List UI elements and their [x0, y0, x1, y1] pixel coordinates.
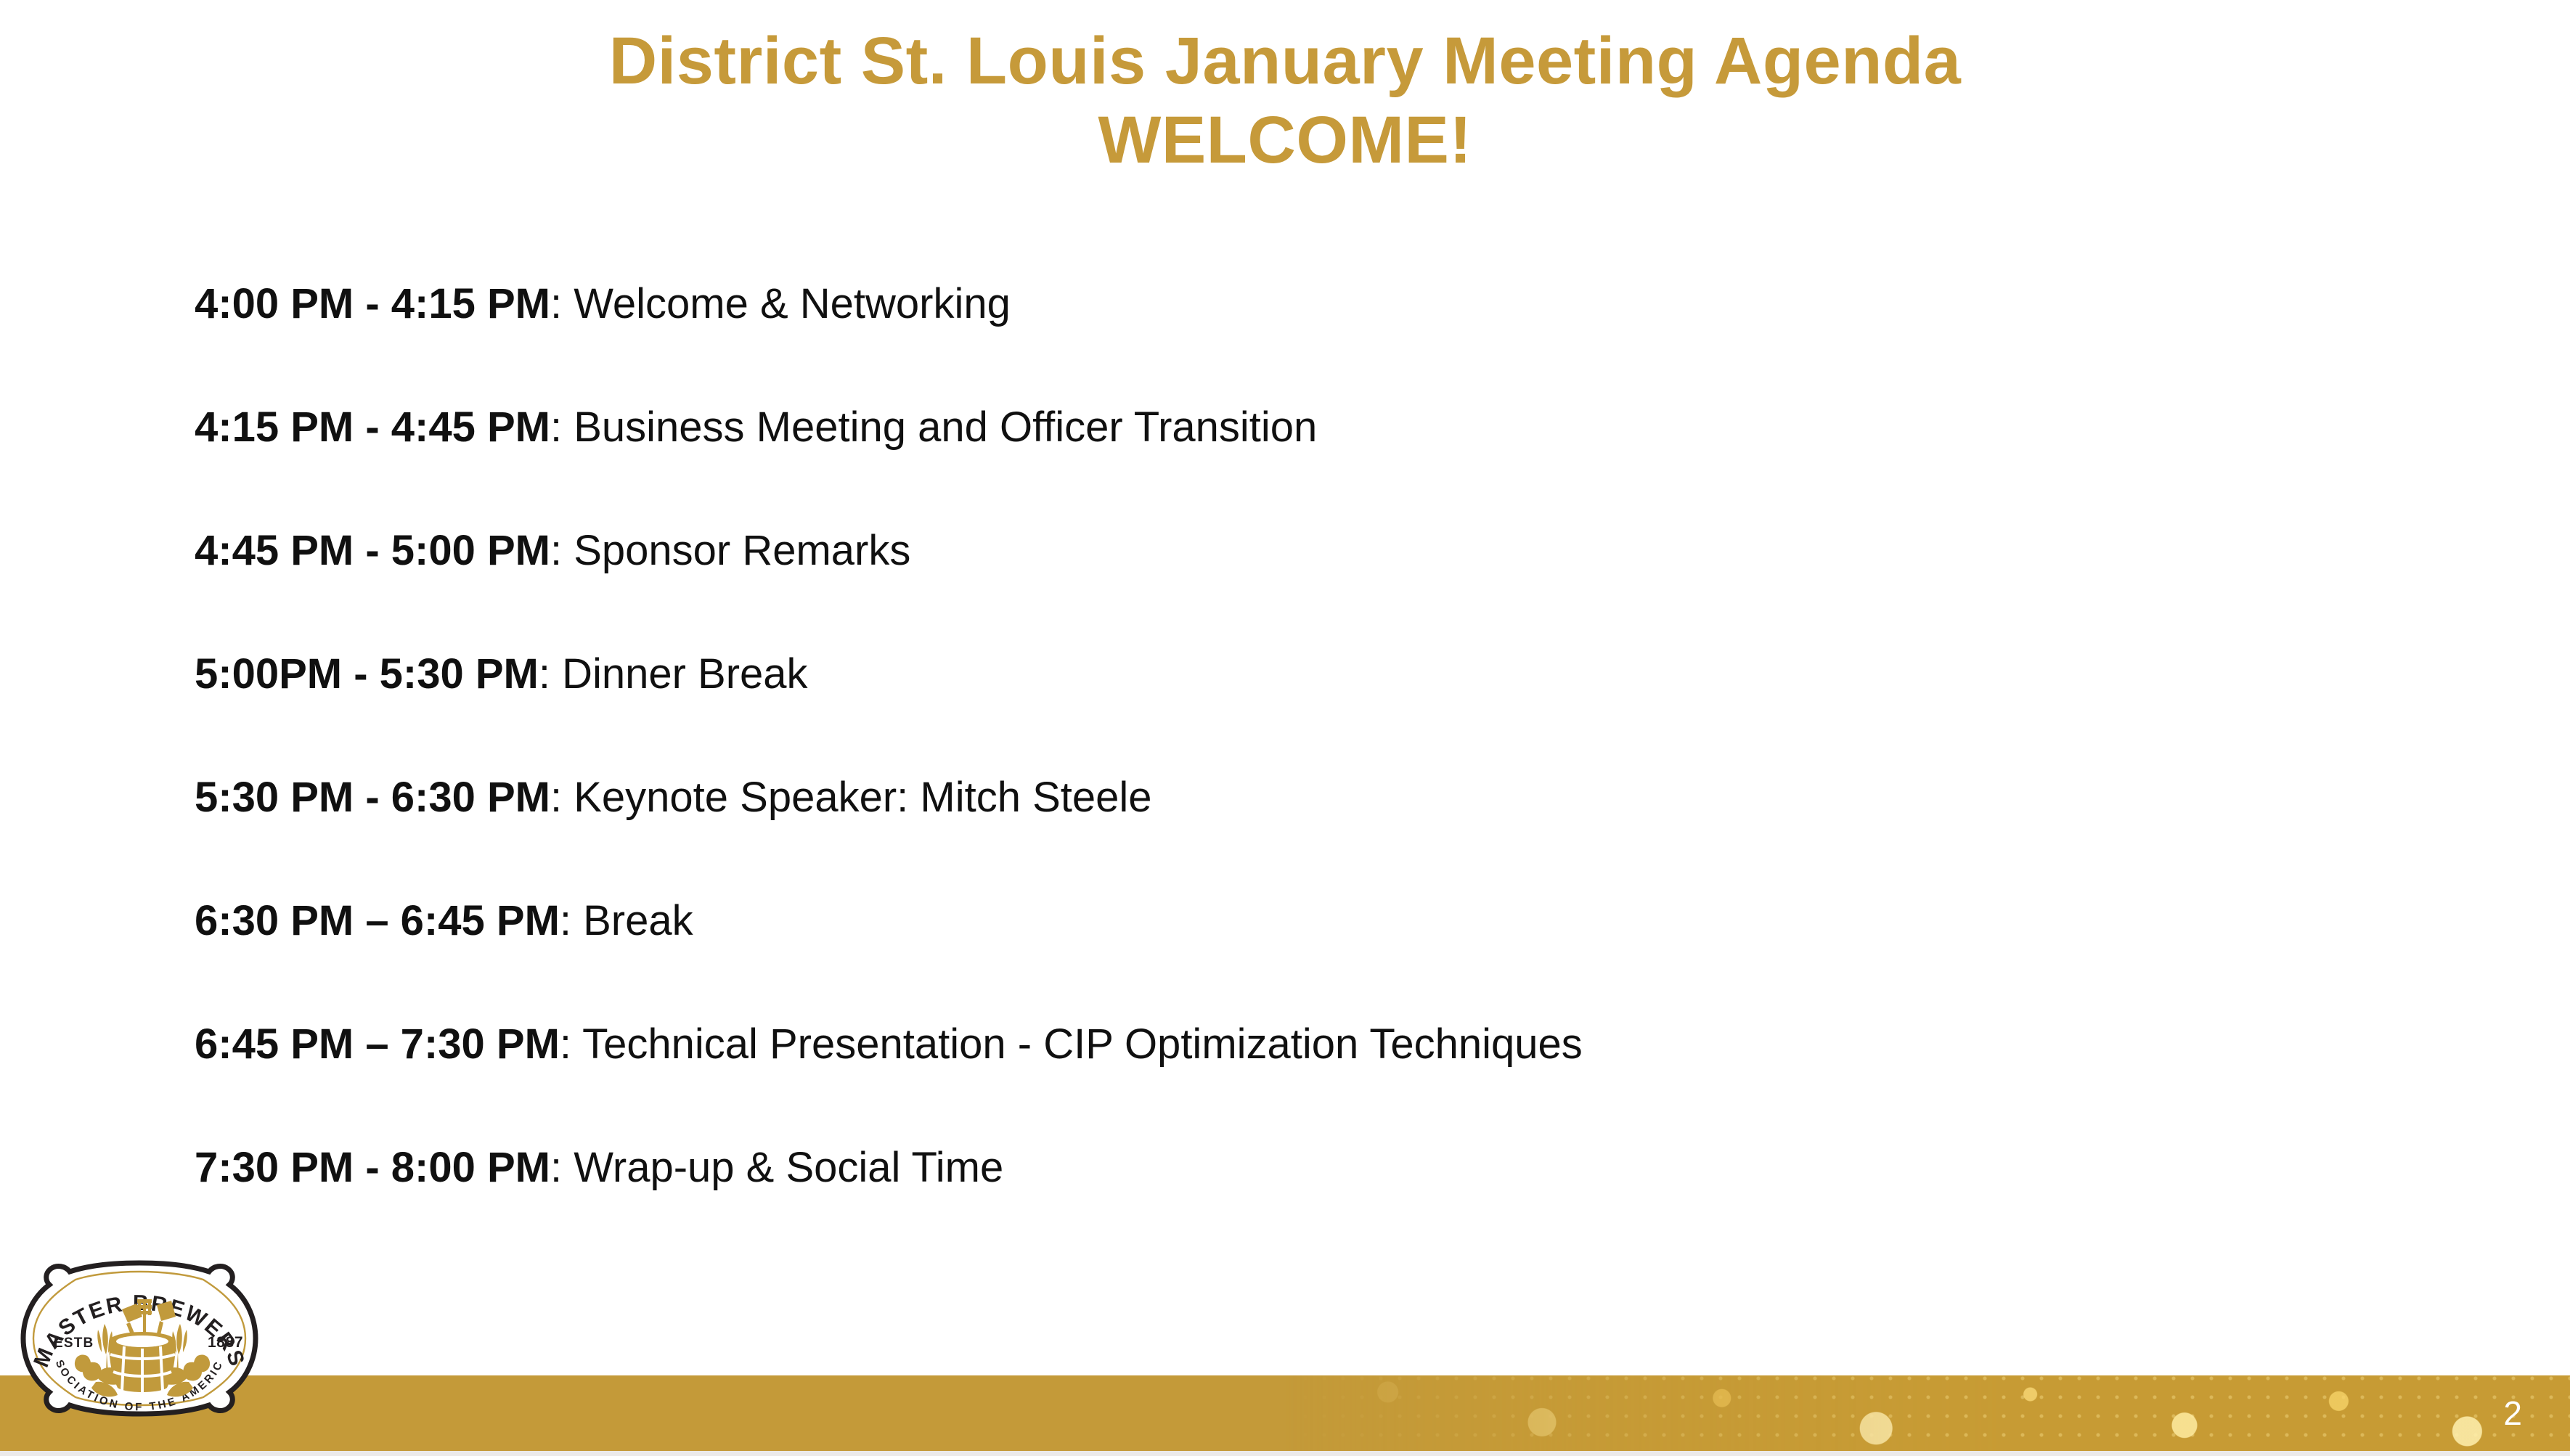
agenda-item: 4:00 PM - 4:15 PM: Welcome & Networking: [195, 283, 2445, 325]
agenda-item-description: Technical Presentation - CIP Optimizatio…: [582, 1021, 1583, 1068]
agenda-item: 5:30 PM - 6:30 PM: Keynote Speaker: Mitc…: [195, 777, 2445, 819]
agenda-list: 4:00 PM - 4:15 PM: Welcome & Networking …: [195, 283, 2445, 1189]
agenda-item-separator: :: [550, 774, 574, 821]
beer-bubbles-texture: [0, 1375, 2570, 1451]
agenda-item-description: Dinner Break: [562, 650, 807, 698]
agenda-item: 7:30 PM - 8:00 PM: Wrap-up & Social Time: [195, 1147, 2445, 1189]
agenda-item-description: Keynote Speaker: Mitch Steele: [574, 774, 1151, 821]
logo-year-label: 1887: [208, 1334, 243, 1351]
agenda-item-time: 4:15 PM - 4:45 PM: [195, 404, 550, 451]
agenda-item-time: 4:00 PM - 4:15 PM: [195, 280, 550, 327]
agenda-item: 4:15 PM - 4:45 PM: Business Meeting and …: [195, 406, 2445, 449]
agenda-item-description: Business Meeting and Officer Transition: [574, 404, 1317, 451]
agenda-item-time: 6:45 PM – 7:30 PM: [195, 1021, 560, 1068]
footer-bar: 2: [0, 1375, 2570, 1451]
logo-established-label: ESTB: [54, 1336, 94, 1351]
agenda-item-description: Wrap-up & Social Time: [574, 1144, 1003, 1191]
agenda-item-time: 5:00PM - 5:30 PM: [195, 650, 539, 698]
agenda-item-time: 4:45 PM - 5:00 PM: [195, 527, 550, 574]
agenda-item: 4:45 PM - 5:00 PM: Sponsor Remarks: [195, 530, 2445, 572]
agenda-item-description: Sponsor Remarks: [574, 527, 910, 574]
agenda-item-time: 7:30 PM - 8:00 PM: [195, 1144, 550, 1191]
page-title: District St. Louis January Meeting Agend…: [109, 22, 2461, 101]
barrel-opening: [116, 1336, 168, 1347]
agenda-item-separator: :: [560, 1021, 582, 1068]
agenda-item: 6:30 PM – 6:45 PM: Break: [195, 900, 2445, 942]
page-number: 2: [2503, 1396, 2522, 1430]
slide-title-block: District St. Louis January Meeting Agend…: [109, 22, 2461, 179]
agenda-item-separator: :: [550, 1144, 574, 1191]
master-brewers-logo: MASTER BREWERS ASSOCIATION OF THE AMERIC…: [12, 1257, 267, 1447]
agenda-item-time: 6:30 PM – 6:45 PM: [195, 897, 560, 944]
agenda-item-separator: :: [550, 280, 574, 327]
slide-canvas: District St. Louis January Meeting Agend…: [0, 0, 2570, 1456]
agenda-item-time: 5:30 PM - 6:30 PM: [195, 774, 550, 821]
page-subtitle: WELCOME!: [109, 101, 2461, 180]
agenda-item-separator: :: [539, 650, 562, 698]
agenda-item: 6:45 PM – 7:30 PM: Technical Presentatio…: [195, 1023, 2445, 1066]
agenda-item-separator: :: [550, 404, 574, 451]
agenda-item-description: Welcome & Networking: [574, 280, 1011, 327]
agenda-item-description: Break: [583, 897, 693, 944]
bottom-edge-strip: [0, 1451, 2570, 1456]
agenda-item-separator: :: [550, 527, 574, 574]
agenda-item: 5:00PM - 5:30 PM: Dinner Break: [195, 653, 2445, 695]
agenda-item-separator: :: [560, 897, 583, 944]
